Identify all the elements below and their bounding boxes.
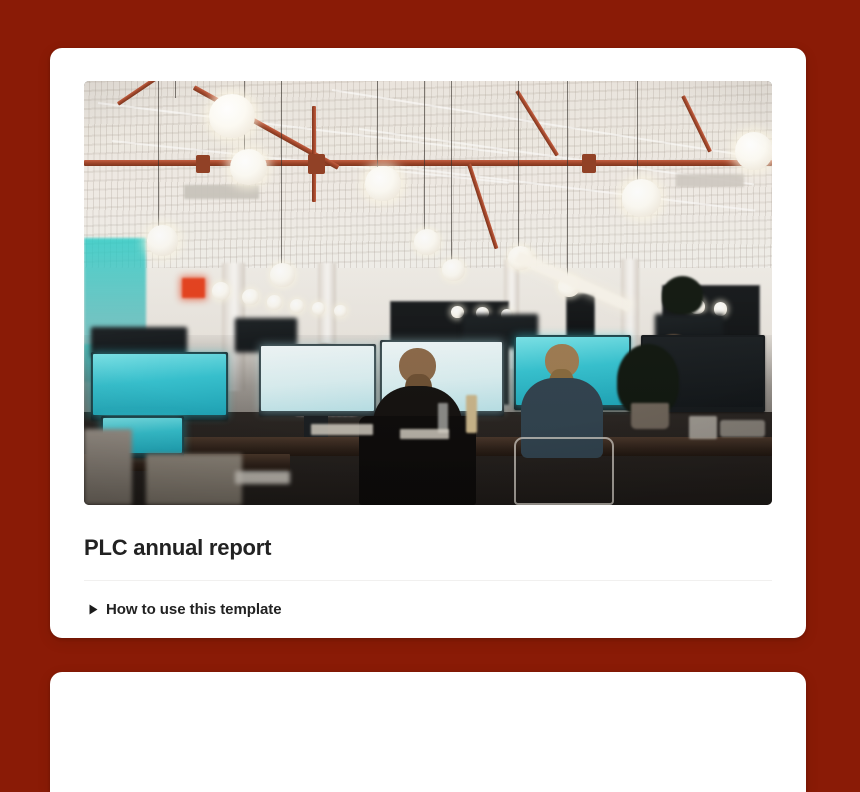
light-cord — [424, 81, 425, 234]
string-bulb — [242, 289, 259, 305]
monitor-screen — [93, 354, 227, 415]
string-bulb — [334, 305, 346, 317]
pendant-bulb — [414, 229, 440, 254]
pipe-joint — [308, 154, 325, 174]
ceiling-pipe-main — [84, 160, 772, 166]
paper-stack — [400, 429, 448, 439]
document-card: PLC annual report How to use this templa… — [50, 48, 806, 638]
light-cord — [518, 81, 519, 251]
pendant-bulb — [442, 259, 465, 281]
light-cord — [567, 81, 568, 280]
chair-back — [84, 429, 132, 505]
drinking-glass — [689, 416, 717, 439]
monitor-screen — [93, 329, 185, 352]
desk-monitor — [91, 352, 229, 420]
toggle-block-how-to-use-this-template[interactable]: How to use this template — [80, 594, 776, 624]
office-chair — [514, 437, 614, 505]
string-bulb — [290, 299, 304, 313]
desk-monitor — [259, 344, 376, 416]
ceiling-vent — [184, 185, 260, 199]
pendant-bulb — [365, 166, 401, 201]
ceiling-vent — [676, 174, 745, 187]
pipe-joint — [196, 155, 210, 173]
pendant-bulb — [230, 149, 267, 185]
light-cord — [637, 81, 638, 183]
filing-cabinet — [146, 454, 242, 505]
background-plant — [662, 276, 703, 314]
bottle — [466, 395, 477, 433]
pendant-bulb — [147, 225, 179, 256]
light-cord — [175, 81, 176, 98]
string-bulb — [212, 282, 230, 300]
triangle-right-icon[interactable] — [80, 604, 106, 615]
pipe-joint — [582, 154, 596, 173]
page-root: PLC annual report How to use this templa… — [0, 0, 860, 690]
string-bulb — [267, 295, 282, 309]
monitor-screen — [261, 346, 374, 411]
pendant-bulb — [270, 263, 295, 287]
desk-drawer — [235, 471, 290, 484]
content-divider — [84, 580, 772, 581]
paper-stack — [311, 424, 373, 435]
light-cord — [281, 81, 282, 268]
pendant-bulb — [209, 94, 254, 138]
cover-image[interactable] — [84, 81, 772, 505]
desk-object — [720, 420, 765, 437]
exit-sign — [182, 278, 205, 298]
next-document-card[interactable] — [50, 672, 806, 792]
toggle-block-label: How to use this template — [106, 601, 282, 618]
cover-image-scene — [84, 81, 772, 505]
light-cord — [377, 81, 378, 170]
pendant-bulb — [622, 179, 661, 217]
light-cord — [451, 81, 452, 263]
light-cord — [158, 81, 159, 229]
page-title: PLC annual report — [84, 533, 271, 563]
plant-pot — [631, 403, 669, 428]
pendant-bulb — [735, 132, 772, 170]
